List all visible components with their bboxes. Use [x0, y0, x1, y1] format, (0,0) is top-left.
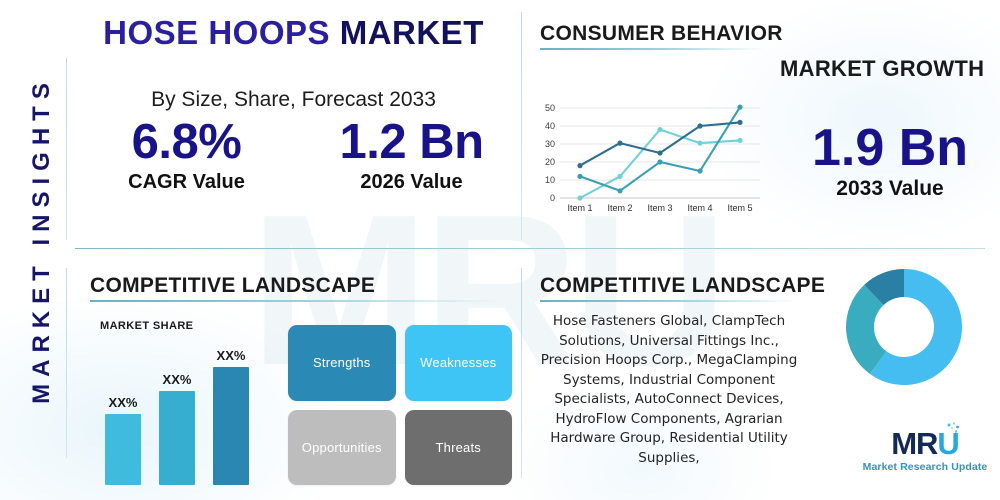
- kpi-2033-caption: 2033 Value: [790, 177, 990, 201]
- section-header-competitive-landscape-right-label: COMPETITIVE LANDSCAPE: [540, 274, 825, 298]
- section-header-consumer-behavior-label: CONSUMER BEHAVIOR: [540, 22, 783, 46]
- line-chart: 01020304050Item 1Item 2Item 3Item 4Item …: [534, 100, 766, 218]
- bar-chart-title: MARKET SHARE: [100, 320, 193, 332]
- section-header-rule: [540, 48, 765, 50]
- bar-chart-bars: XX%XX%XX%: [105, 345, 270, 485]
- kpi-cagr-value: 6.8%: [74, 118, 299, 168]
- section-header-rule: [90, 300, 500, 302]
- brand-logo-subtitle: Market Research Update: [855, 461, 995, 473]
- kpi-2033-value: 1.9 Bn: [790, 122, 990, 175]
- side-rail: MARKET INSIGHTS: [0, 0, 66, 500]
- bar-chart-data-label: XX%: [217, 348, 246, 363]
- divider-vertical-left-top: [66, 58, 67, 240]
- bar-chart-data-label: XX%: [163, 372, 192, 387]
- divider-vertical-middle-bottom: [521, 268, 522, 478]
- page-title-part2: MARKET: [340, 14, 484, 51]
- kpi-2026: 1.2 Bn 2026 Value: [299, 118, 524, 194]
- svg-text:10: 10: [545, 175, 555, 185]
- bar-chart-item: XX%: [159, 372, 195, 485]
- section-header-market-growth: MARKET GROWTH: [780, 56, 984, 82]
- swot-strengths[interactable]: Strengths: [288, 325, 396, 401]
- swot-opportunities[interactable]: Opportunities: [288, 410, 396, 486]
- kpi-2026-caption: 2026 Value: [299, 171, 524, 194]
- side-rail-label: MARKET INSIGHTS: [28, 30, 56, 450]
- page-title-part1: HOSE HOOPS: [103, 14, 330, 51]
- svg-text:30: 30: [545, 139, 555, 149]
- section-header-competitive-landscape-left: COMPETITIVE LANDSCAPE: [90, 274, 500, 302]
- section-header-competitive-landscape-right: COMPETITIVE LANDSCAPE: [540, 274, 825, 302]
- water-droplets-icon: [945, 421, 961, 437]
- swot-threats[interactable]: Threats: [405, 410, 513, 486]
- bar-chart-item: XX%: [105, 395, 141, 485]
- section-header-rule: [540, 300, 795, 302]
- svg-text:Item 4: Item 4: [687, 203, 712, 213]
- page-subtitle: By Size, Share, Forecast 2033: [66, 88, 521, 112]
- swot-grid: StrengthsWeaknessesOpportunitiesThreats: [288, 325, 512, 485]
- brand-logo-mark: MRU: [891, 428, 959, 460]
- bar-chart: MARKET SHARE XX%XX%XX%: [100, 320, 270, 485]
- page-title: HOSE HOOPS MARKET: [66, 14, 521, 52]
- svg-text:50: 50: [545, 103, 555, 113]
- divider-horizontal: [75, 248, 985, 249]
- kpi-group-left: 6.8% CAGR Value 1.2 Bn 2026 Value: [74, 118, 524, 194]
- bar-chart-bar: [105, 414, 141, 485]
- svg-text:Item 5: Item 5: [727, 203, 752, 213]
- swot-weaknesses[interactable]: Weaknesses: [405, 325, 513, 401]
- infographic-canvas: MRU MARKET INSIGHTS HOSE HOOPS MARKET By…: [0, 0, 1000, 500]
- svg-text:Item 2: Item 2: [607, 203, 632, 213]
- bar-chart-bar: [159, 391, 195, 485]
- section-header-competitive-landscape-left-label: COMPETITIVE LANDSCAPE: [90, 274, 500, 298]
- kpi-cagr: 6.8% CAGR Value: [74, 118, 299, 194]
- brand-logo-mark-primary: MR: [891, 426, 937, 461]
- section-header-consumer-behavior: CONSUMER BEHAVIOR: [540, 22, 783, 50]
- company-list: Hose Fasteners Global, ClampTech Solutio…: [533, 312, 805, 468]
- svg-text:0: 0: [550, 193, 555, 203]
- bar-chart-bar: [213, 367, 249, 485]
- kpi-2033: 1.9 Bn 2033 Value: [790, 122, 990, 201]
- donut-chart-svg: [845, 268, 963, 386]
- line-chart-svg: 01020304050Item 1Item 2Item 3Item 4Item …: [534, 100, 766, 218]
- svg-text:40: 40: [545, 121, 555, 131]
- kpi-2026-value: 1.2 Bn: [299, 118, 524, 168]
- divider-vertical-left-bottom: [66, 268, 67, 458]
- brand-logo: MRU Market Research Update: [855, 428, 995, 473]
- bar-chart-item: XX%: [213, 348, 249, 485]
- bar-chart-data-label: XX%: [109, 395, 138, 410]
- donut-chart: [845, 268, 963, 386]
- svg-text:20: 20: [545, 157, 555, 167]
- svg-text:Item 3: Item 3: [647, 203, 672, 213]
- svg-text:Item 1: Item 1: [567, 203, 592, 213]
- kpi-cagr-caption: CAGR Value: [74, 171, 299, 194]
